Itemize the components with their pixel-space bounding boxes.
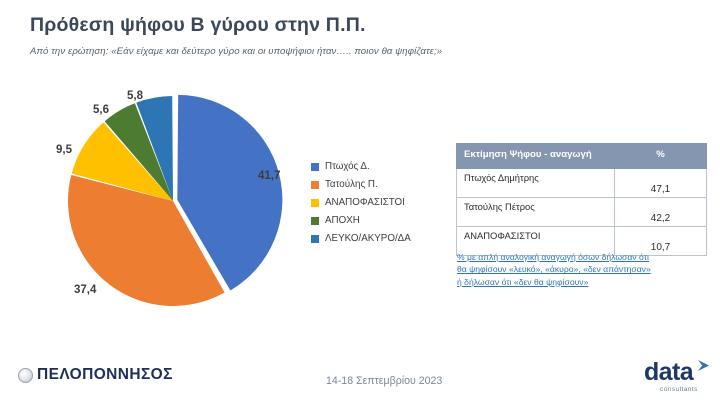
legend-item-anapofasistoi: ΑΝΑΠΟΦΑΣΙΣΤΟΙ bbox=[311, 194, 411, 211]
data-consultants-logo: data consultants bbox=[644, 360, 714, 398]
survey-date: 14-18 Σεπτεμβρίου 2023 bbox=[326, 375, 442, 387]
legend-swatch-icon bbox=[311, 199, 319, 207]
pie-value-label-lefko: 5,8 bbox=[127, 90, 143, 102]
table-header-row: Εκτίμηση Ψήφου - αναγωγή % bbox=[457, 144, 707, 169]
legend-item-apoxi: ΑΠΟΧΗ bbox=[311, 212, 411, 229]
data-logo-word: data bbox=[644, 360, 693, 385]
pie-value-label-ptohos: 41,7 bbox=[258, 170, 280, 182]
legend-item-label: ΑΠΟΧΗ bbox=[325, 215, 360, 226]
column-header-estimate: Εκτίμηση Ψήφου - αναγωγή bbox=[457, 144, 615, 169]
legend-swatch-icon bbox=[311, 217, 319, 225]
results-table-head: Εκτίμηση Ψήφου - αναγωγή % bbox=[457, 144, 707, 169]
page-title: Πρόθεση ψήφου Β γύρου στην Π.Π. bbox=[30, 14, 366, 37]
legend-swatch-icon bbox=[311, 163, 319, 171]
table-footnote: % με απλή αναλογική αναγωγή όσων δήλωσαν… bbox=[457, 251, 701, 288]
circular-emblem-icon bbox=[18, 368, 33, 383]
legend-item-label: ΑΝΑΠΟΦΑΣΙΣΤΟΙ bbox=[325, 197, 405, 208]
data-logo-tagline: consultants bbox=[660, 386, 698, 393]
legend-item-label: Πτωχός Δ. bbox=[325, 161, 370, 172]
legend-item-ptohos: Πτωχός Δ. bbox=[311, 158, 411, 175]
table-row: Πτωχός Δημήτρης 47,1 bbox=[457, 168, 707, 197]
cell-candidate-value: 47,1 bbox=[615, 168, 707, 197]
results-table: Εκτίμηση Ψήφου - αναγωγή % Πτωχός Δημήτρ… bbox=[456, 143, 707, 256]
footnote-line-3: ή δήλωσαν ότι «δεν θα ψηφίσουν» bbox=[457, 276, 701, 288]
pie-chart-svg bbox=[62, 90, 284, 312]
column-header-percent: % bbox=[615, 144, 707, 169]
publisher-name: ΠΕΛΟΠΟΝΝΗΣΟΣ bbox=[37, 366, 173, 384]
pie-chart bbox=[62, 90, 284, 312]
cell-candidate-name: Τατούλης Πέτρος bbox=[457, 197, 615, 226]
pie-value-label-apoxi: 5,6 bbox=[93, 104, 109, 116]
footnote-line-1: % με απλή αναλογική αναγωγή όσων δήλωσαν… bbox=[457, 251, 701, 263]
legend-item-lefko: ΛΕΥΚΟ/ΑΚΥΡΟ/ΔΑ bbox=[311, 230, 411, 247]
page-subtitle: Από την ερώτηση: «Εάν είχαμε και δεύτερο… bbox=[30, 46, 442, 57]
arrow-icon bbox=[696, 359, 712, 380]
legend-swatch-icon bbox=[311, 235, 319, 243]
slide-canvas: Πρόθεση ψήφου Β γύρου στην Π.Π. Από την … bbox=[0, 0, 720, 405]
table-row: Τατούλης Πέτρος 42,2 bbox=[457, 197, 707, 226]
legend-item-tatoulis: Τατούλης Π. bbox=[311, 176, 411, 193]
cell-candidate-value: 42,2 bbox=[615, 197, 707, 226]
footnote-line-2: θα ψηφίσουν «λευκό», «άκυρο», «δεν απάντ… bbox=[457, 263, 701, 275]
chart-legend: Πτωχός Δ. Τατούλης Π. ΑΝΑΠΟΦΑΣΙΣΤΟΙ ΑΠΟΧ… bbox=[311, 158, 411, 248]
legend-item-label: ΛΕΥΚΟ/ΑΚΥΡΟ/ΔΑ bbox=[325, 233, 411, 244]
pie-slices bbox=[68, 95, 282, 306]
legend-item-label: Τατούλης Π. bbox=[325, 179, 378, 190]
results-table-body: Πτωχός Δημήτρης 47,1 Τατούλης Πέτρος 42,… bbox=[457, 168, 707, 255]
pie-value-label-tatoulis: 37,4 bbox=[74, 284, 96, 296]
legend-swatch-icon bbox=[311, 181, 319, 189]
pie-value-label-anapofasistoi: 9,5 bbox=[56, 144, 72, 156]
publisher-logo: ΠΕΛΟΠΟΝΝΗΣΟΣ bbox=[18, 366, 173, 384]
cell-candidate-name: Πτωχός Δημήτρης bbox=[457, 168, 615, 197]
